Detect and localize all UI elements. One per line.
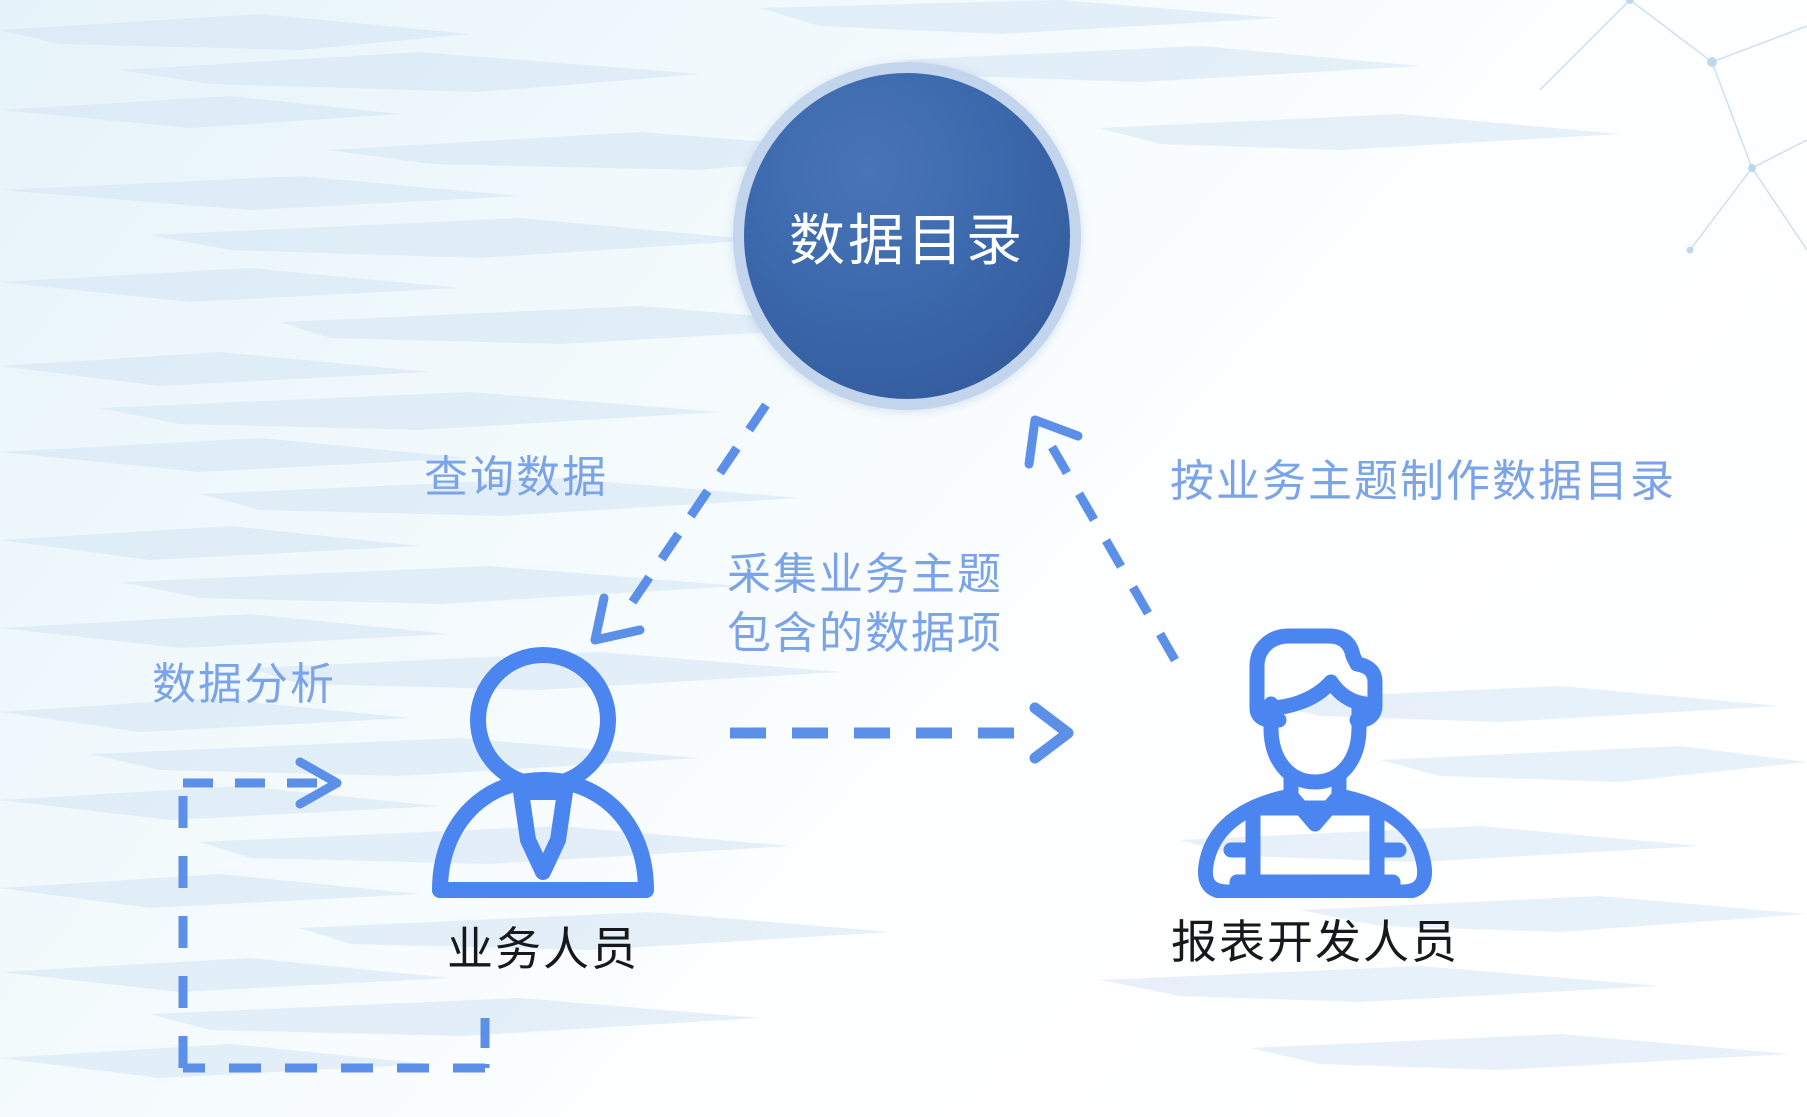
arrowhead-query-data	[595, 598, 640, 640]
business-person-icon	[418, 640, 668, 905]
diagram-canvas: 数据目录 查询数据 按业务主题制作数据目录 采集业务主题 包含的数据项 数据分析	[0, 0, 1807, 1117]
data-catalog-hub[interactable]: 数据目录	[733, 62, 1081, 410]
hub-label: 数据目录	[789, 196, 1025, 277]
arrowhead-collect-items	[1035, 708, 1068, 758]
edge-label-collect-line2: 包含的数据项	[727, 604, 1003, 663]
actor-caption-report-developer: 报表开发人员	[1171, 906, 1459, 972]
edge-label-data-analysis: 数据分析	[152, 655, 336, 714]
edge-label-collect-line1: 采集业务主题	[727, 545, 1003, 604]
report-developer-laptop-icon	[1179, 610, 1451, 898]
actor-report-developer[interactable]: 报表开发人员	[1155, 610, 1475, 972]
actor-business-person[interactable]: 业务人员	[398, 640, 688, 979]
edge-label-make-catalog: 按业务主题制作数据目录	[1170, 452, 1676, 511]
edge-label-query-data: 查询数据	[424, 448, 608, 507]
edge-label-collect-items: 采集业务主题 包含的数据项	[727, 545, 1003, 664]
actor-caption-business-person: 业务人员	[447, 913, 639, 979]
